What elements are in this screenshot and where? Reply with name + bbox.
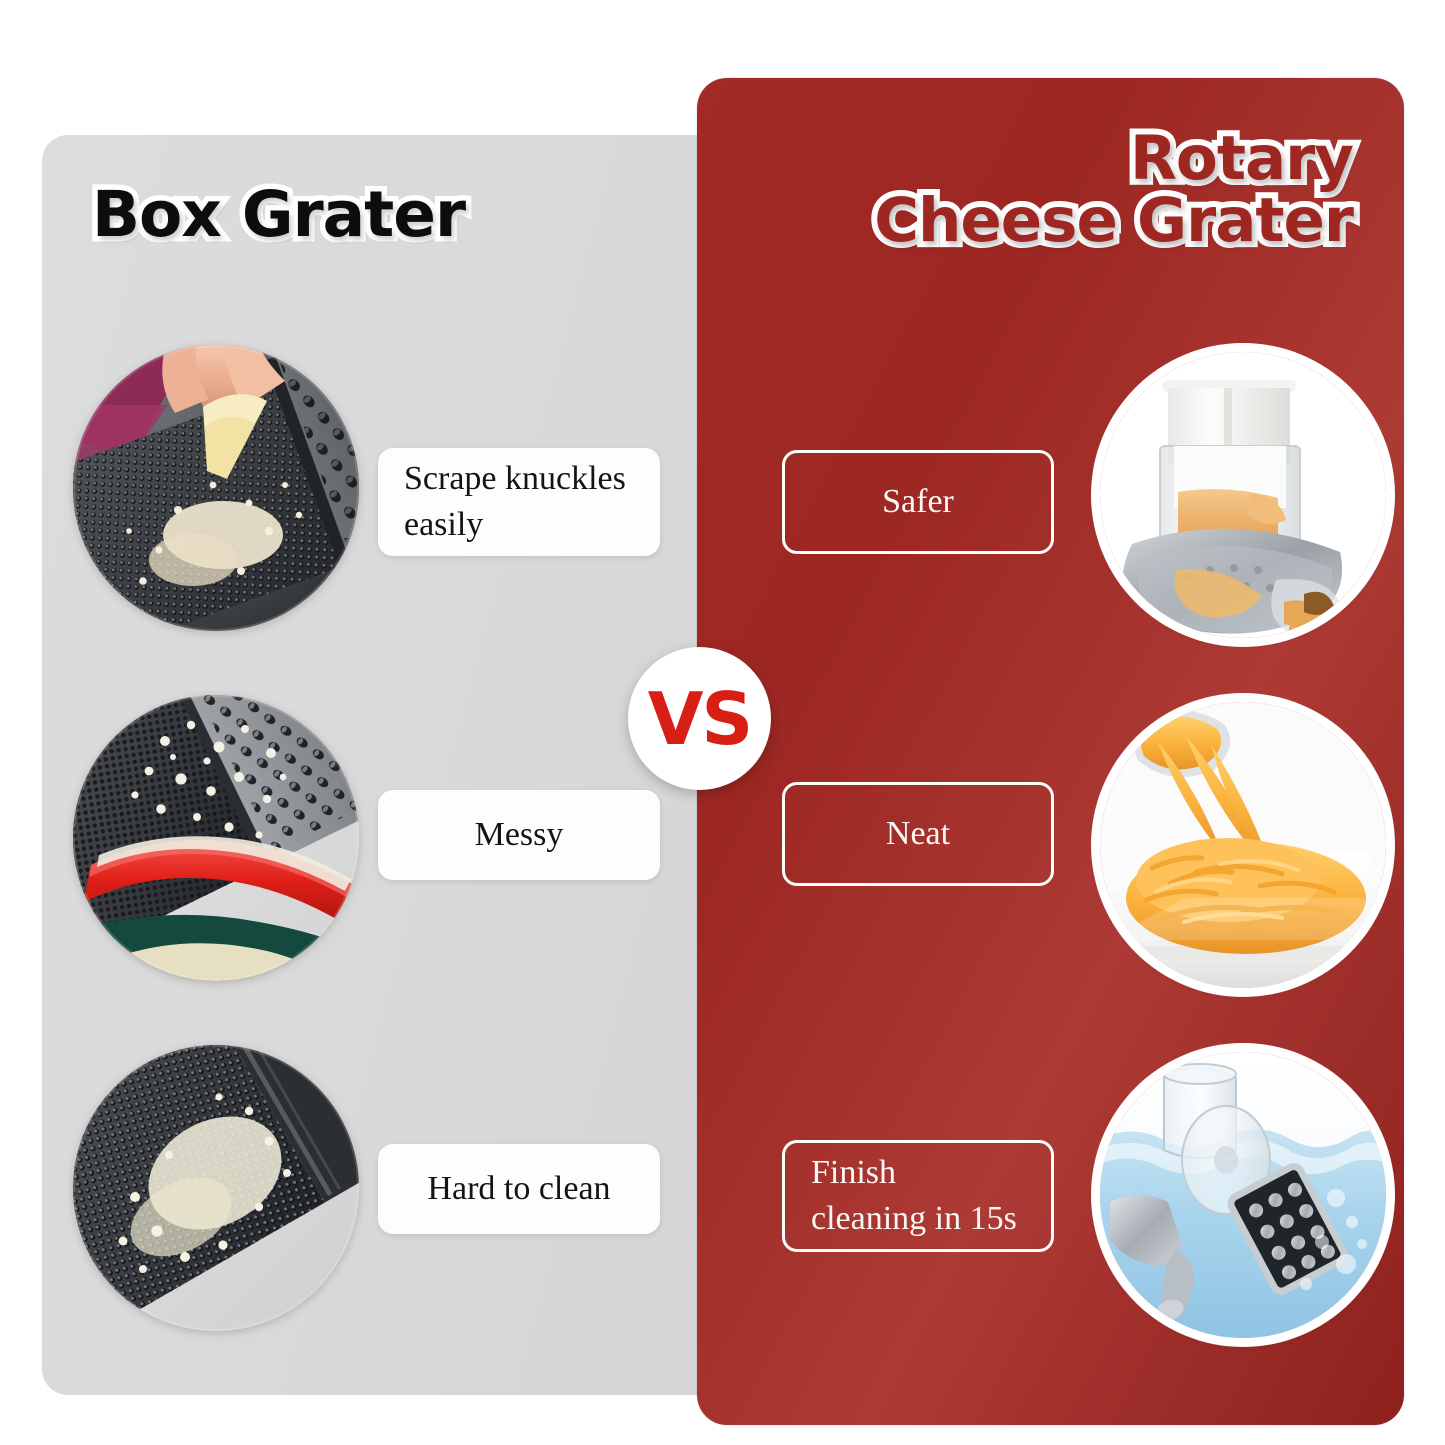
- versus-label: VS: [648, 683, 752, 755]
- left-label-3-text: Hard to clean: [427, 1166, 610, 1212]
- image-rotary-cheese-grater-product: [1100, 352, 1386, 638]
- left-panel-title: Box Grater: [92, 183, 465, 247]
- photo-illustration: [1100, 1052, 1386, 1338]
- right-panel-title: Rotary Cheese Grater: [874, 128, 1353, 252]
- photo-illustration: [73, 1045, 359, 1331]
- left-label-1-text: Scrape knuckles easily: [404, 456, 626, 547]
- right-label-1: Safer: [782, 450, 1054, 554]
- photo-illustration: [73, 695, 359, 981]
- image-grater-parts-washing-in-water: [1100, 1052, 1386, 1338]
- right-label-1-text: Safer: [882, 479, 954, 525]
- photo-illustration: [1100, 702, 1386, 988]
- image-messy-grater-with-scattered-cheese: [73, 695, 359, 981]
- right-label-2: Neat: [782, 782, 1054, 886]
- left-label-1: Scrape knuckles easily: [378, 448, 660, 556]
- left-label-3: Hard to clean: [378, 1144, 660, 1234]
- photo-illustration: [73, 345, 359, 631]
- image-dirty-grater-clogged-with-cheese: [73, 1045, 359, 1331]
- comparison-infographic: Box Grater: [0, 0, 1445, 1445]
- left-label-2-text: Messy: [475, 812, 564, 858]
- right-label-3: Finish cleaning in 15s: [782, 1140, 1054, 1252]
- image-shredded-cheddar-in-white-dish: [1100, 702, 1386, 988]
- photo-illustration: [1100, 352, 1386, 638]
- image-hand-grating-cheese-on-box-grater: [73, 345, 359, 631]
- versus-badge: VS: [628, 647, 771, 790]
- left-label-2: Messy: [378, 790, 660, 880]
- right-label-2-text: Neat: [886, 811, 950, 857]
- right-label-3-text: Finish cleaning in 15s: [811, 1150, 1017, 1241]
